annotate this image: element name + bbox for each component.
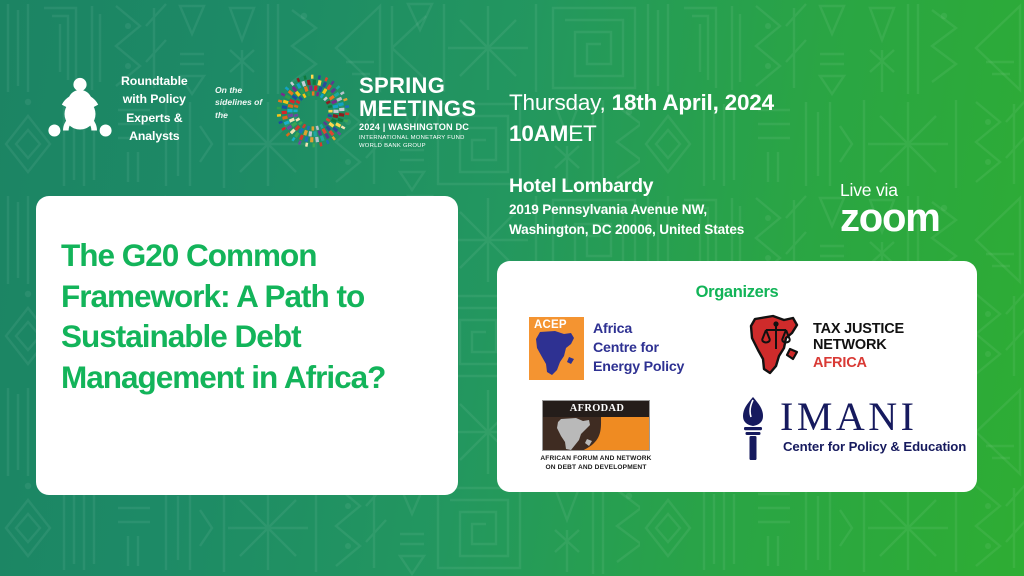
- afrodad-wordmark: AFRODAD: [543, 401, 650, 417]
- acep-name-line-1: Africa: [593, 320, 684, 339]
- africa-map-icon: [533, 329, 580, 377]
- imani-wordmark: IMANI Center for Policy & Education: [780, 395, 966, 454]
- africa-map-scales-icon: [747, 313, 805, 379]
- spring-line-4: INTERNATIONAL MONETARY FUNDWORLD BANK GR…: [359, 135, 476, 151]
- venue-address-line-1: 2019 Pennsylvania Avenue NW,: [509, 202, 707, 217]
- event-datetime: Thursday, 18th April, 2024 10AMET: [509, 88, 774, 148]
- roundtable-logo: Roundtablewith PolicyExperts &Analysts: [47, 72, 188, 146]
- acep-wordmark: Africa Centre for Energy Policy: [593, 320, 684, 377]
- poster-header: Roundtablewith PolicyExperts &Analysts O…: [0, 0, 1024, 196]
- spring-meetings-wordmark: SPRING MEETINGS 2024 | WASHINGTON DC INT…: [359, 71, 476, 151]
- event-venue: Hotel Lombardy 2019 Pennsylvania Avenue …: [509, 174, 744, 239]
- event-time: 10AMET: [509, 119, 774, 148]
- event-date: Thursday, 18th April, 2024: [509, 88, 774, 118]
- venue-address: 2019 Pennsylvania Avenue NW, Washington,…: [509, 200, 744, 239]
- organizers-logo-grid: ACEP Africa Centre for Energy Policy: [497, 309, 977, 492]
- zoom-wordmark: zoom: [840, 198, 940, 238]
- afrodad-caption-line-1: AFRICAN FORUM AND NETWORK: [540, 455, 651, 462]
- tjna-name-line-3: AFRICA: [813, 355, 904, 371]
- spring-line-1: SPRING: [359, 75, 476, 97]
- world-flags-wreath-icon: [272, 70, 354, 152]
- live-via-zoom: Live via zoom: [840, 181, 940, 238]
- page-title: The G20 Common Framework: A Path to Sust…: [61, 235, 436, 398]
- acep-name-line-2: Centre for: [593, 339, 684, 358]
- afrodad-caption-line-2: ON DEBT AND DEVELOPMENT: [545, 464, 646, 471]
- sidelines-note: On the sidelines of the: [215, 84, 267, 121]
- venue-name: Hotel Lombardy: [509, 174, 744, 199]
- organizers-heading: Organizers: [497, 261, 977, 302]
- event-title-card: The G20 Common Framework: A Path to Sust…: [36, 196, 458, 495]
- acep-badge: ACEP: [529, 317, 584, 380]
- africa-map-orange-icon: [543, 417, 650, 451]
- spring-line-2: MEETINGS: [359, 97, 476, 120]
- event-day-month-year: 18th April, 2024: [612, 90, 774, 115]
- spring-meetings-logo: SPRING MEETINGS 2024 | WASHINGTON DC INT…: [272, 70, 476, 152]
- organizer-logo-acep: ACEP Africa Centre for Energy Policy: [529, 317, 684, 380]
- spring-line-3: 2024 | WASHINGTON DC: [359, 122, 476, 132]
- organizer-logo-imani: IMANI Center for Policy & Education: [733, 395, 966, 461]
- event-time-value: 10AM: [509, 121, 568, 146]
- event-weekday: Thursday,: [509, 90, 606, 115]
- venue-address-line-2: Washington, DC 20006, United States: [509, 222, 744, 237]
- afrodad-caption: AFRICAN FORUM AND NETWORK ON DEBT AND DE…: [521, 455, 671, 473]
- roundtable-logo-label: Roundtablewith PolicyExperts &Analysts: [121, 72, 188, 146]
- tjna-name-line-2: NETWORK: [813, 337, 904, 353]
- acep-name-line-3: Energy Policy: [593, 358, 684, 377]
- event-timezone: ET: [568, 121, 596, 146]
- afrodad-badge: AFRODAD: [542, 400, 650, 451]
- imani-tagline: Center for Policy & Education: [783, 439, 966, 454]
- imani-name: IMANI: [780, 397, 966, 437]
- organizer-logo-afrodad: AFRODAD AFRICAN FORUM AND NETWORK ON DEB…: [521, 400, 671, 473]
- organizers-card: Organizers ACEP Africa Centre for Energy…: [497, 261, 977, 492]
- organizer-logo-tax-justice-network-africa: TAX JUSTICE NETWORK AFRICA: [747, 313, 904, 379]
- tjna-wordmark: TAX JUSTICE NETWORK AFRICA: [813, 321, 904, 371]
- roundtable-people-circle-icon: [47, 73, 113, 145]
- torch-flame-icon: [733, 395, 773, 461]
- tjna-name-line-1: TAX JUSTICE: [813, 321, 904, 337]
